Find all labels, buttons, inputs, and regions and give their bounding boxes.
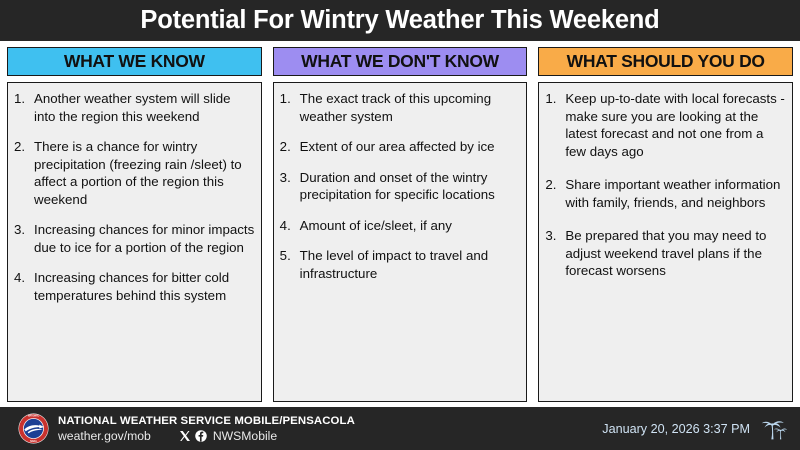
list-item-text: Increasing chances for minor impacts due… — [34, 221, 255, 256]
column-header-label: WHAT WE KNOW — [64, 53, 205, 71]
list-item-text: Amount of ice/sleet, if any — [300, 217, 521, 235]
office-name: NATIONAL WEATHER SERVICE MOBILE/PENSACOL… — [58, 414, 355, 428]
weather-infographic: Potential For Wintry Weather This Weeken… — [0, 0, 800, 450]
list-item-text: The exact track of this upcoming weather… — [300, 90, 521, 125]
list-item: 3. Be prepared that you may need to adju… — [545, 227, 786, 280]
list-item-number: 1. — [545, 90, 565, 108]
list-item-text: There is a chance for wintry precipitati… — [34, 138, 255, 208]
list-item-number: 2. — [280, 138, 300, 156]
list-item-number: 3. — [14, 221, 34, 239]
item-list: 1. Another weather system will slide int… — [14, 90, 255, 304]
list-item: 2. Extent of our area affected by ice — [280, 138, 521, 156]
page-title: Potential For Wintry Weather This Weeken… — [140, 8, 659, 34]
column-what-we-dont-know: WHAT WE DON'T KNOW 1. The exact track of… — [273, 47, 528, 402]
column-what-we-know: WHAT WE KNOW 1. Another weather system w… — [7, 47, 262, 402]
footer-bar: NATIONAL NOAA NATIONAL WEATHER SERVICE M… — [0, 407, 800, 450]
column-header-what-we-dont-know: WHAT WE DON'T KNOW — [273, 47, 528, 76]
column-header-label: WHAT WE DON'T KNOW — [301, 53, 499, 71]
list-item-text: Keep up-to-date with local forecasts - m… — [565, 90, 786, 160]
list-item: 1. Keep up-to-date with local forecasts … — [545, 90, 786, 160]
list-item-number: 4. — [280, 217, 300, 235]
column-header-what-we-know: WHAT WE KNOW — [7, 47, 262, 76]
list-item-number: 2. — [545, 176, 565, 194]
column-header-label: WHAT SHOULD YOU DO — [567, 53, 765, 71]
x-twitter-icon[interactable] — [179, 430, 191, 442]
list-item-number: 3. — [280, 169, 300, 187]
list-item-number: 3. — [545, 227, 565, 245]
palm-tree-icon — [758, 414, 788, 444]
social-group: NWSMobile — [179, 429, 277, 444]
list-item-number: 4. — [14, 269, 34, 287]
column-header-what-should-you-do: WHAT SHOULD YOU DO — [538, 47, 793, 76]
list-item-text: Duration and onset of the wintry precipi… — [300, 169, 521, 204]
list-item-number: 1. — [280, 90, 300, 108]
list-item: 2. Share important weather information w… — [545, 176, 786, 211]
column-body-what-we-know: 1. Another weather system will slide int… — [7, 82, 262, 402]
list-item: 5. The level of impact to travel and inf… — [280, 247, 521, 282]
footer-second-line: weather.gov/mob NWSMobile — [58, 429, 355, 444]
list-item-text: Share important weather information with… — [565, 176, 786, 211]
list-item: 4. Amount of ice/sleet, if any — [280, 217, 521, 235]
list-item: 3. Duration and onset of the wintry prec… — [280, 169, 521, 204]
column-body-what-we-dont-know: 1. The exact track of this upcoming weat… — [273, 82, 528, 402]
list-item: 1. Another weather system will slide int… — [14, 90, 255, 125]
list-item: 4. Increasing chances for bitter cold te… — [14, 269, 255, 304]
list-item-text: Be prepared that you may need to adjust … — [565, 227, 786, 280]
facebook-icon[interactable] — [195, 430, 207, 442]
footer-right-group: January 20, 2026 3:37 PM — [602, 414, 788, 444]
title-bar: Potential For Wintry Weather This Weeken… — [0, 0, 800, 41]
columns-container: WHAT WE KNOW 1. Another weather system w… — [0, 41, 800, 407]
list-item-number: 5. — [280, 247, 300, 265]
list-item-number: 1. — [14, 90, 34, 108]
item-list: 1. Keep up-to-date with local forecasts … — [545, 90, 786, 280]
list-item-number: 2. — [14, 138, 34, 156]
list-item: 3. Increasing chances for minor impacts … — [14, 221, 255, 256]
nws-seal-icon: NATIONAL NOAA — [18, 413, 49, 444]
website-link[interactable]: weather.gov/mob — [58, 429, 151, 444]
list-item: 1. The exact track of this upcoming weat… — [280, 90, 521, 125]
column-what-should-you-do: WHAT SHOULD YOU DO 1. Keep up-to-date wi… — [538, 47, 793, 402]
list-item: 2. There is a chance for wintry precipit… — [14, 138, 255, 208]
item-list: 1. The exact track of this upcoming weat… — [280, 90, 521, 282]
column-body-what-should-you-do: 1. Keep up-to-date with local forecasts … — [538, 82, 793, 402]
footer-left-group: NATIONAL NOAA NATIONAL WEATHER SERVICE M… — [18, 413, 355, 444]
list-item-text: Increasing chances for bitter cold tempe… — [34, 269, 255, 304]
social-handle[interactable]: NWSMobile — [213, 429, 277, 444]
list-item-text: The level of impact to travel and infras… — [300, 247, 521, 282]
footer-text-block: NATIONAL WEATHER SERVICE MOBILE/PENSACOL… — [58, 414, 355, 444]
list-item-text: Extent of our area affected by ice — [300, 138, 521, 156]
timestamp: January 20, 2026 3:37 PM — [602, 422, 750, 436]
list-item-text: Another weather system will slide into t… — [34, 90, 255, 125]
